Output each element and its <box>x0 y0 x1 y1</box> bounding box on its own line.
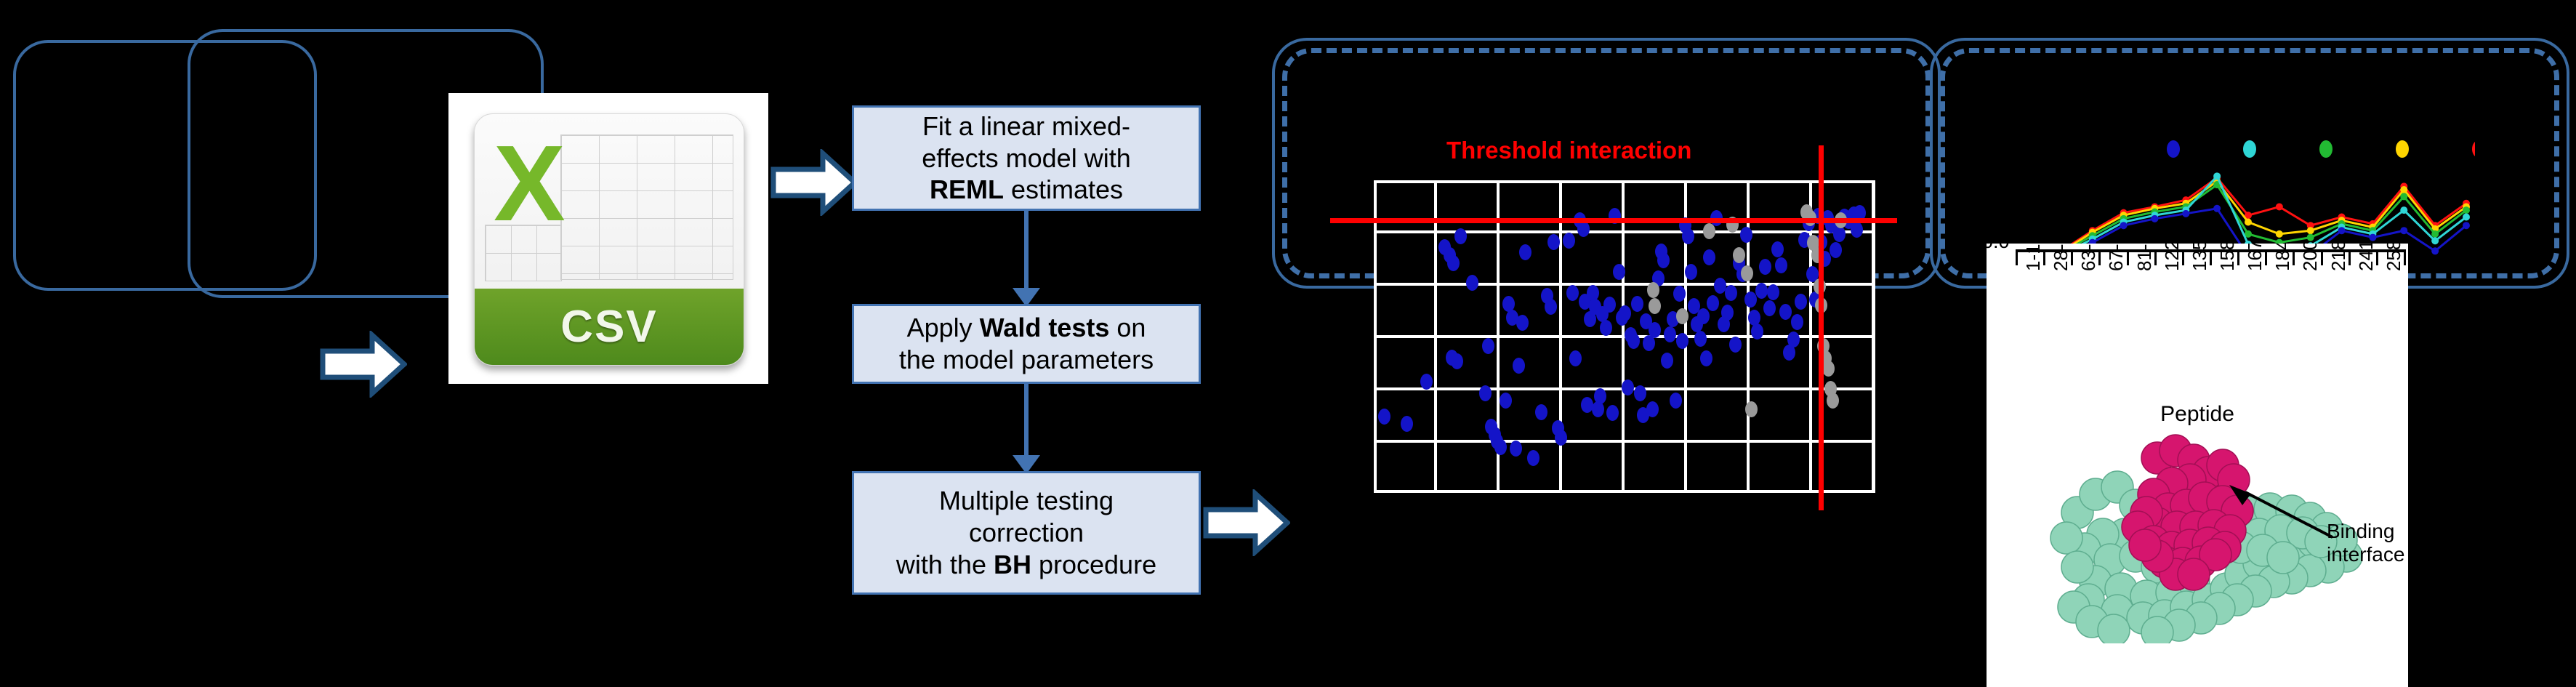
line-series-marker <box>2400 206 2407 214</box>
line-series-marker <box>2245 219 2252 226</box>
scatter-point <box>1745 401 1758 417</box>
scatter-title: Threshold interaction <box>1446 137 1691 164</box>
surface-blob <box>2129 529 2161 561</box>
line-series-marker <box>2338 227 2346 234</box>
line-series-marker <box>2463 222 2470 229</box>
legend-dot-series-cyan <box>2243 140 2256 158</box>
scatter-point <box>1661 353 1673 369</box>
scatter-point <box>1822 361 1835 377</box>
surface-blob <box>2098 614 2130 643</box>
threshold-state-line <box>1819 145 1824 510</box>
line-series-marker <box>2276 203 2283 210</box>
line-series-marker <box>2463 206 2470 214</box>
line-series-marker <box>2213 172 2221 180</box>
scatter-point <box>1527 450 1539 466</box>
wald-line-2: the model parameters <box>899 345 1154 374</box>
line-series-marker <box>2307 234 2314 241</box>
scatter-point <box>1647 282 1659 298</box>
peptide-tick-label: 81-101 <box>2133 244 2156 271</box>
bh-line-1: Multiple testing <box>939 486 1114 515</box>
peptide-tick-label: 28-44 <box>2050 244 2072 271</box>
scatter-point <box>1401 416 1413 432</box>
peptide-tick-label: 135-144 <box>2189 244 2211 271</box>
peptide-tick-label: 63-73 <box>2077 244 2100 271</box>
connector-line-1 <box>1024 211 1029 289</box>
line-series-marker <box>2431 230 2439 238</box>
block-arrow-right-3 <box>1203 489 1290 556</box>
scatter-plot <box>1374 180 1875 493</box>
threshold-interaction-line <box>1330 218 1897 223</box>
scatter-point <box>1795 294 1807 310</box>
x-tick <box>2016 249 2018 265</box>
scatter-point <box>1703 223 1715 239</box>
csv-sheet-face: X <box>475 114 744 289</box>
legend-dot-series-yellow <box>2396 140 2409 158</box>
y-tick-zero: 0.0 <box>1987 244 2010 253</box>
reml-line-1: Fit a linear mixed- <box>922 111 1130 141</box>
scatter-point <box>1676 308 1689 324</box>
peptide-tick-label: 158-166 <box>2216 244 2239 271</box>
scatter-point <box>1707 295 1719 311</box>
surface-blob <box>2141 616 2173 643</box>
scatter-point <box>1759 259 1771 275</box>
scatter-point <box>1646 401 1659 417</box>
surface-blob <box>2061 551 2093 583</box>
scatter-point <box>1500 393 1512 409</box>
line-series-marker <box>2307 227 2314 234</box>
scatter-point <box>1744 292 1757 308</box>
line-series-marker <box>2182 210 2189 217</box>
process-box-bh[interactable]: Multiple testing correction with the BH … <box>852 471 1201 595</box>
scatter-point <box>1676 333 1689 349</box>
bh-line-3-lead: with the <box>896 550 994 579</box>
scatter-point <box>1700 350 1712 366</box>
peptide-tick-label: 1-15 <box>2022 244 2045 271</box>
bh-keyword: BH <box>994 550 1031 579</box>
legend-dot-series-red <box>2472 140 2475 158</box>
peptide-tick-label: 258-266 <box>2383 244 2405 271</box>
line-series-marker <box>2431 247 2439 254</box>
peptide-tick-label: 122-129 <box>2161 244 2183 271</box>
scatter-point <box>1447 255 1460 271</box>
csv-format-label: CSV <box>560 301 657 353</box>
scatter-point <box>1763 300 1776 316</box>
bh-line-3-tail: procedure <box>1031 550 1156 579</box>
line-series-marker <box>2213 205 2221 212</box>
surface-blob <box>2267 542 2299 574</box>
legend-dot-series-green <box>2319 140 2333 158</box>
excel-x-glyph: X <box>494 130 565 238</box>
scatter-point <box>1787 332 1800 347</box>
peptide-tick-label: 200-214 <box>2299 244 2322 271</box>
connector-line-2 <box>1024 384 1029 457</box>
wald-tail: on <box>1109 313 1146 342</box>
binding-label-line-1: Binding <box>2327 520 2404 543</box>
scatter-point <box>1697 308 1710 324</box>
scatter-point <box>1664 326 1676 342</box>
x-axis-title: Peptide <box>1987 402 2408 427</box>
wald-lead: Apply <box>907 313 980 342</box>
scatter-point <box>1513 358 1525 374</box>
scatter-point <box>1830 242 1842 258</box>
scatter-point <box>1755 283 1768 299</box>
csv-file-image: X CSV <box>448 93 768 384</box>
wald-keyword: Wald tests <box>980 313 1110 342</box>
process-box-reml[interactable]: Fit a linear mixed- effects model with R… <box>852 105 1201 211</box>
scatter-point <box>1649 322 1661 338</box>
scatter-point <box>1631 296 1643 312</box>
line-series-marker <box>2463 214 2470 221</box>
legend-dot-series-blue <box>2167 140 2180 158</box>
peptide-tick-label: 241-257 <box>2355 244 2378 271</box>
scatter-point <box>1606 405 1619 421</box>
peptide-tick-label: 184-199 <box>2271 244 2294 271</box>
bh-line-2: correction <box>969 518 1084 547</box>
scatter-point <box>1378 409 1390 425</box>
peptide-tick-label: 67-75 <box>2105 244 2128 271</box>
reml-line-3-tail: estimates <box>1004 174 1123 204</box>
workflow-figure: X CSV Fit a linear mixed- effects model … <box>0 0 2576 687</box>
scatter-point <box>1682 228 1694 244</box>
binding-interface-arrow <box>2226 483 2335 542</box>
scatter-point <box>1740 227 1752 243</box>
scatter-point <box>1563 233 1575 249</box>
csv-format-band: CSV <box>475 289 744 365</box>
surface-blob <box>2050 522 2082 554</box>
scatter-point <box>1703 249 1715 265</box>
process-box-wald[interactable]: Apply Wald tests on the model parameters <box>852 304 1201 384</box>
scatter-point <box>1827 393 1839 409</box>
scatter-point <box>1673 286 1686 302</box>
line-series-marker <box>2151 215 2158 222</box>
scatter-point <box>1516 315 1529 331</box>
line-series-marker <box>2400 186 2407 193</box>
scatter-point <box>1622 379 1634 395</box>
scatter-point <box>1566 285 1579 301</box>
csv-grid-main <box>560 134 733 280</box>
block-arrow-right-2 <box>770 149 858 216</box>
scatter-point <box>1694 331 1707 347</box>
reml-keyword: REML <box>930 174 1004 204</box>
scatter-point <box>1494 439 1507 455</box>
line-series-marker <box>2369 234 2376 241</box>
surface-blob <box>2178 558 2210 590</box>
binding-interface-label: Binding interface <box>2327 520 2404 566</box>
line-series-marker <box>2400 193 2407 200</box>
scatter-point <box>1634 385 1646 401</box>
scatter-point <box>1594 388 1606 404</box>
scatter-point <box>1600 320 1612 336</box>
peptide-tick-label: 167-180 <box>2244 244 2266 271</box>
csv-icon: X CSV <box>474 113 744 366</box>
binding-label-line-2: interface <box>2327 543 2404 566</box>
scatter-point <box>1613 264 1625 280</box>
scatter-point <box>1771 241 1784 257</box>
scatter-point <box>1779 304 1792 320</box>
scatter-point <box>1510 441 1522 457</box>
reml-line-2: effects model with <box>922 143 1130 173</box>
peptide-tick-label: 218-237 <box>2327 244 2350 271</box>
line-series-marker <box>2276 230 2283 238</box>
scatter-point <box>1725 285 1737 301</box>
scatter-point <box>1851 222 1863 238</box>
block-arrow-right-1 <box>320 331 407 398</box>
scatter-point <box>1545 299 1557 315</box>
line-series-marker <box>2431 237 2439 244</box>
scatter-point <box>1729 337 1742 353</box>
peptide-axis-and-structure-card: 0.0 1-1528-4463-7367-7581-101122-129135-… <box>1987 244 2408 687</box>
line-series-marker <box>2400 227 2407 234</box>
scatter-point <box>1619 305 1631 321</box>
scatter-point <box>1547 234 1560 250</box>
line-series-marker <box>2120 222 2128 229</box>
